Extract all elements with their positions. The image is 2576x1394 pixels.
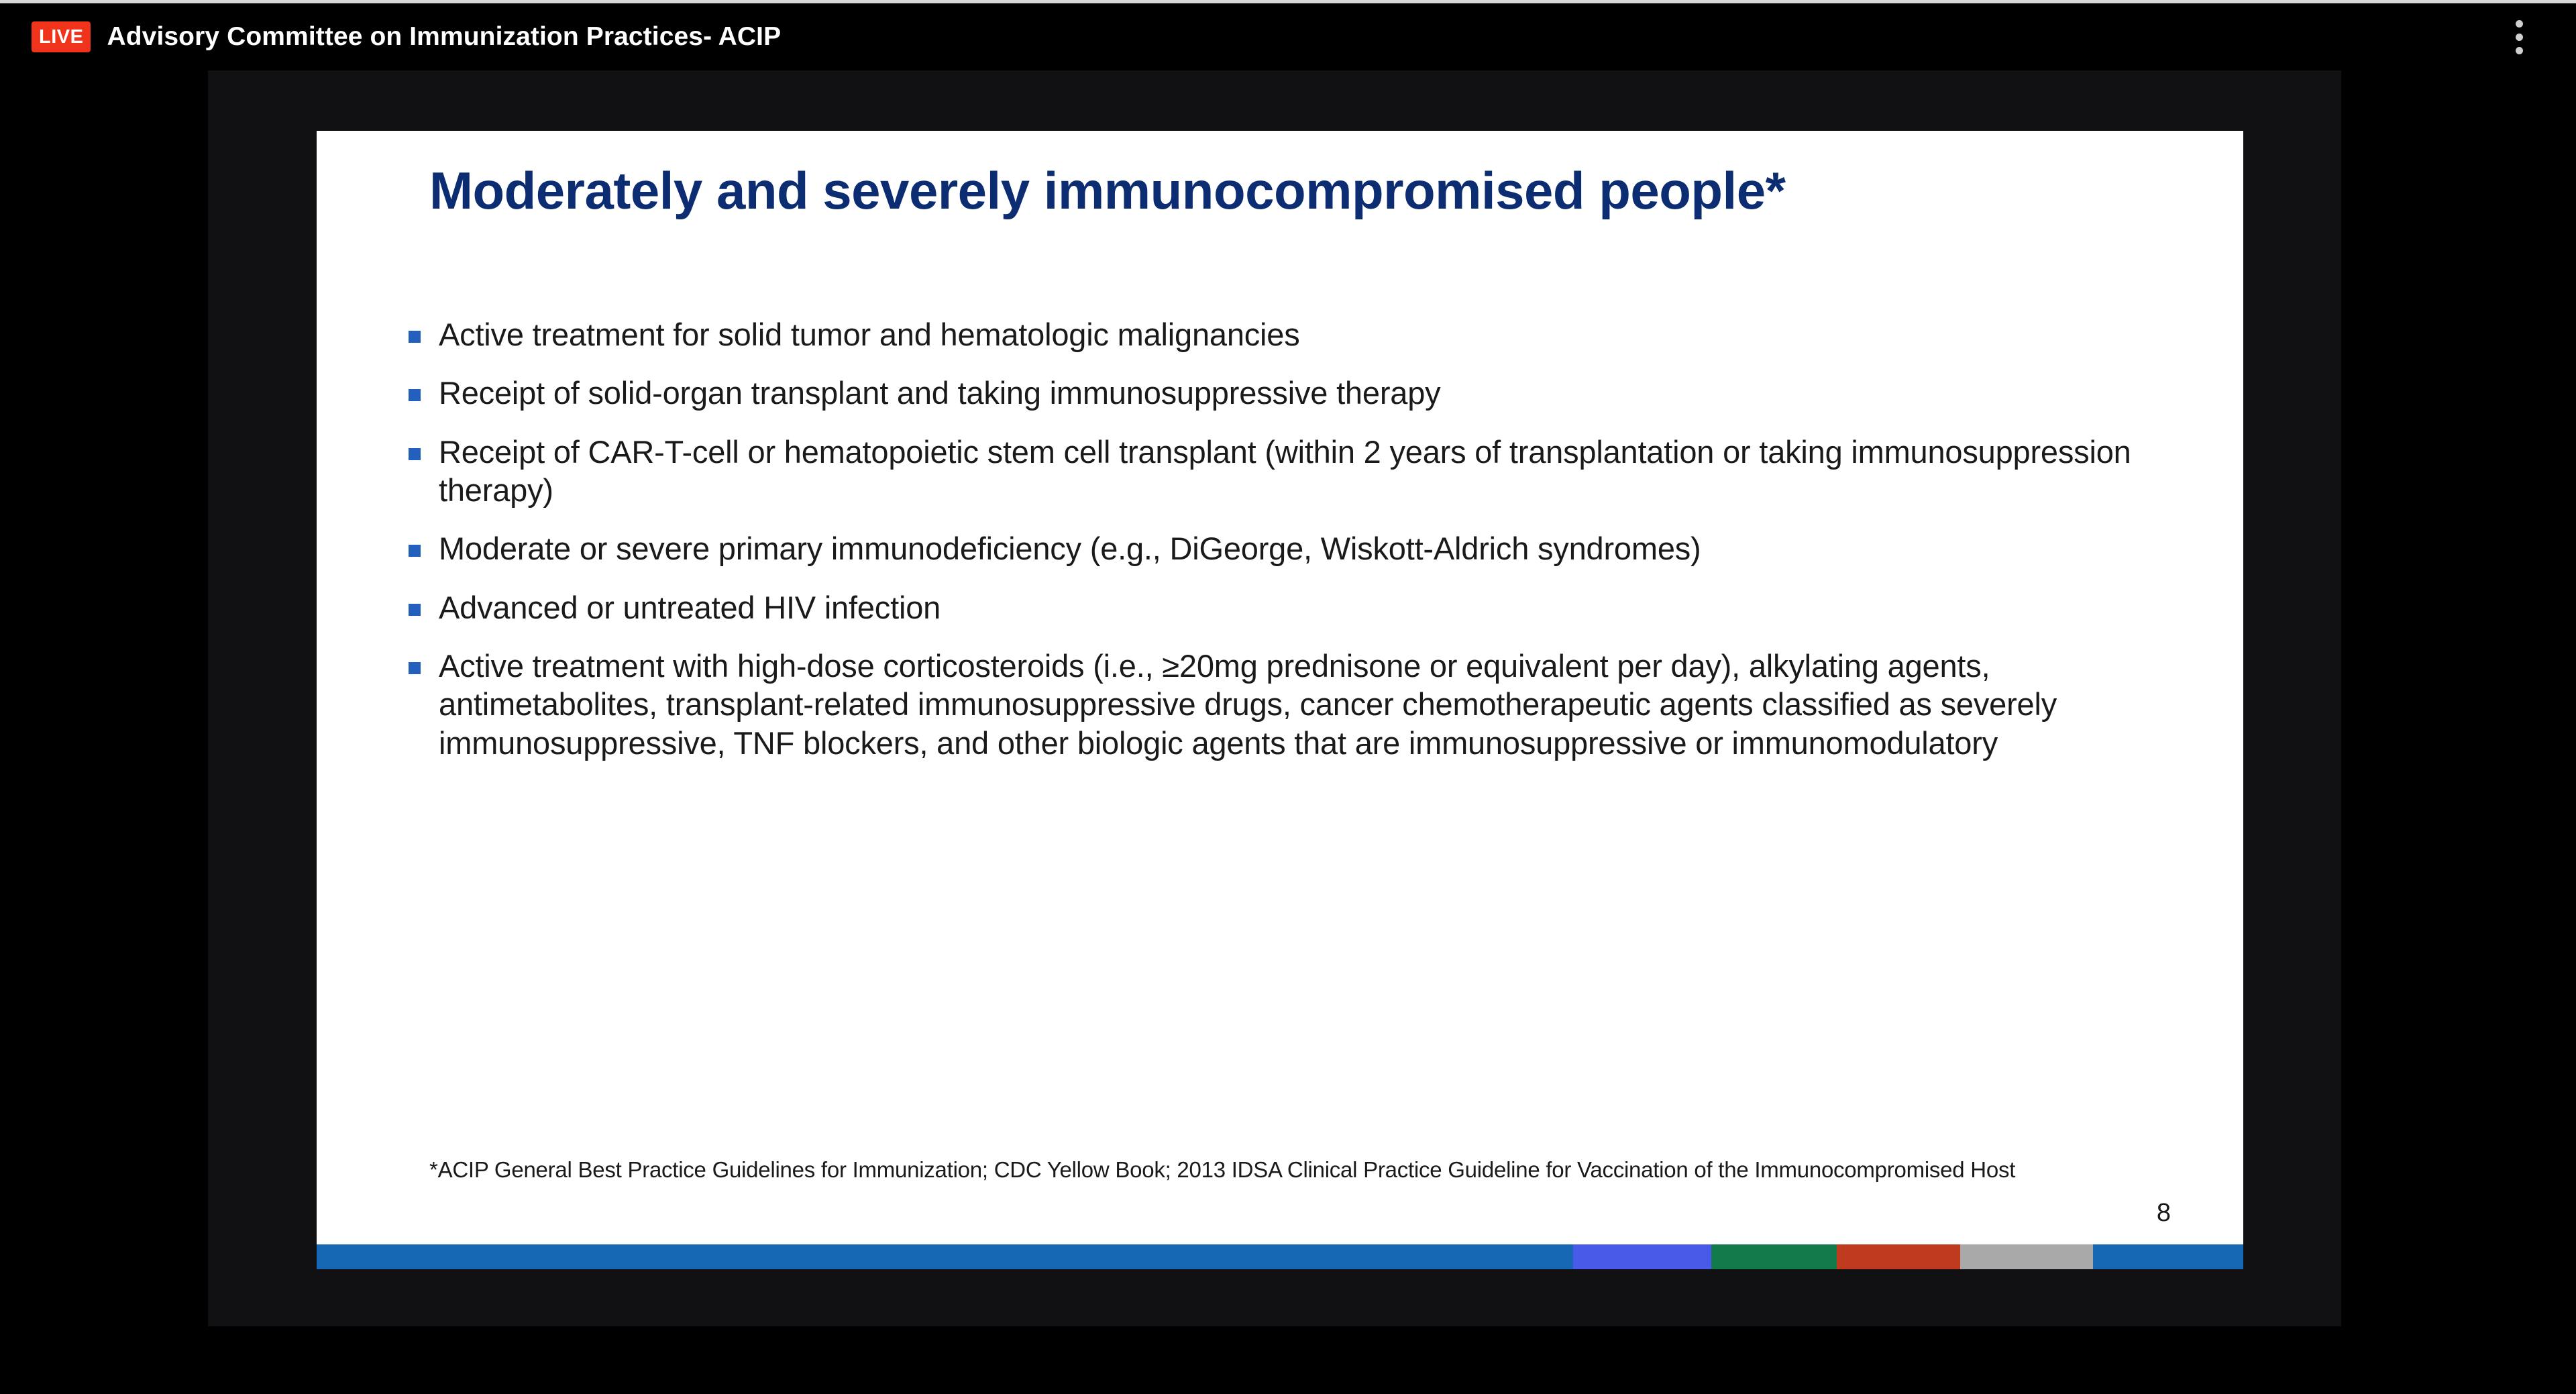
- accent-segment-red: [1837, 1244, 1960, 1269]
- accent-segment-blue-end: [2093, 1244, 2243, 1269]
- list-item: Receipt of CAR-T-cell or hematopoietic s…: [405, 433, 2216, 510]
- slide-bullet-list: Active treatment for solid tumor and hem…: [405, 315, 2216, 782]
- list-item-label: Receipt of CAR-T-cell or hematopoietic s…: [439, 433, 2216, 510]
- accent-segment-periwinkle: [1573, 1244, 1712, 1269]
- slide-accent-bar: [317, 1244, 2243, 1269]
- square-bullet-icon: [409, 331, 421, 343]
- list-item: Advanced or untreated HIV infection: [405, 588, 2216, 627]
- slide-footnote: *ACIP General Best Practice Guidelines f…: [429, 1156, 2187, 1185]
- accent-segment-blue-main: [317, 1244, 1573, 1269]
- kebab-dot-bottom: [2516, 47, 2523, 54]
- list-item: Moderate or severe primary immunodeficie…: [405, 529, 2216, 568]
- square-bullet-icon: [409, 662, 421, 674]
- square-bullet-icon: [409, 448, 421, 460]
- video-player[interactable]: LIVE Advisory Committee on Immunization …: [0, 3, 2576, 1394]
- list-item-label: Advanced or untreated HIV infection: [439, 588, 2216, 627]
- stream-title: Advisory Committee on Immunization Pract…: [107, 22, 781, 52]
- square-bullet-icon: [409, 389, 421, 401]
- list-item-label: Moderate or severe primary immunodeficie…: [439, 529, 2216, 568]
- kebab-menu-icon[interactable]: [2501, 15, 2537, 58]
- presentation-slide[interactable]: Moderately and severely immunocompromise…: [317, 131, 2243, 1269]
- player-header-bar: LIVE Advisory Committee on Immunization …: [0, 3, 2576, 70]
- list-item: Active treatment with high-dose corticos…: [405, 647, 2216, 762]
- kebab-dot-top: [2516, 20, 2523, 28]
- kebab-dot-middle: [2516, 34, 2523, 41]
- accent-segment-gray: [1960, 1244, 2093, 1269]
- slide-title: Moderately and severely immunocompromise…: [429, 163, 2200, 219]
- live-status-badge: LIVE: [32, 21, 91, 52]
- slide-page-number: 8: [2157, 1199, 2171, 1228]
- list-item-label: Active treatment for solid tumor and hem…: [439, 315, 2216, 354]
- square-bullet-icon: [409, 604, 421, 616]
- accent-segment-green: [1711, 1244, 1837, 1269]
- list-item-label: Active treatment with high-dose corticos…: [439, 647, 2216, 762]
- list-item-label: Receipt of solid-organ transplant and ta…: [439, 374, 2216, 412]
- list-item: Receipt of solid-organ transplant and ta…: [405, 374, 2216, 412]
- square-bullet-icon: [409, 545, 421, 557]
- list-item: Active treatment for solid tumor and hem…: [405, 315, 2216, 354]
